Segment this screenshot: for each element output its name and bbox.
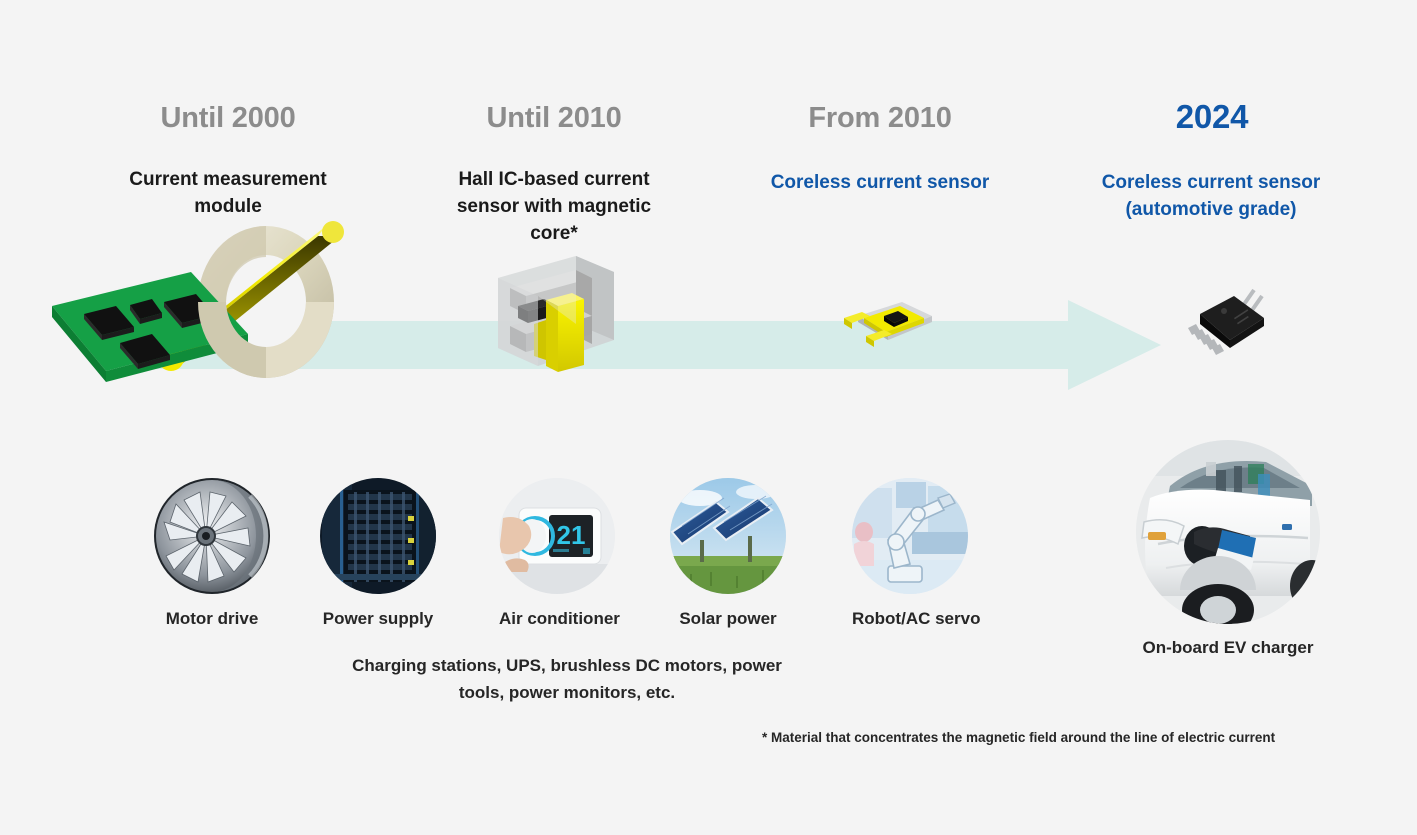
c-core-hall-sensor-icon	[480, 248, 630, 388]
solar-power-image	[670, 478, 786, 594]
soic-ic-package-icon	[1178, 284, 1274, 364]
robot-arm-image	[852, 478, 968, 594]
thermostat-temperature-value: 21	[557, 520, 586, 550]
product-image-coreless-current-sensor	[840, 298, 940, 360]
application-power-supply: Power supply	[320, 478, 436, 629]
era-header-2024: 2024	[1112, 98, 1312, 136]
era-subtitle-until-2010: Hall IC-based current sensor with magnet…	[434, 166, 674, 247]
product-image-hall-ic-core-sensor	[480, 248, 630, 388]
application-motor-drive: Motor drive	[154, 478, 270, 629]
era-subtitle-until-2010-line1: Hall IC-based current	[434, 166, 674, 193]
era-subtitle-until-2000: Current measurement module	[118, 166, 338, 220]
era-header-from-2010: From 2010	[780, 102, 980, 135]
application-solar-power: Solar power	[670, 478, 786, 629]
application-label-on-board-ev-charger: On-board EV charger	[1136, 638, 1320, 658]
ev-charging-image	[1136, 440, 1320, 624]
power-supply-image	[320, 478, 436, 594]
infographic-canvas: Until 2000 Until 2010 From 2010 2024 Cur…	[0, 0, 1417, 835]
application-label-motor-drive: Motor drive	[154, 609, 270, 629]
footnote-text: * Material that concentrates the magneti…	[762, 730, 1275, 745]
product-image-automotive-ic-package	[1178, 284, 1274, 364]
era-subtitle-2024-line2: (automotive grade)	[1068, 196, 1354, 223]
era-subtitle-2024-line1: Coreless current sensor	[1068, 169, 1354, 196]
era-subtitle-2024: Coreless current sensor (automotive grad…	[1068, 169, 1354, 223]
application-label-air-conditioner: Air conditioner	[499, 609, 615, 629]
era-subtitle-until-2000-line1: Current measurement	[118, 166, 338, 193]
era-subtitle-from-2010-line1: Coreless current sensor	[740, 169, 1020, 196]
application-air-conditioner: 21 Air conditioner	[499, 478, 615, 629]
application-robot-ac-servo: Robot/AC servo	[852, 478, 968, 629]
application-label-power-supply: Power supply	[320, 609, 436, 629]
era-subtitle-from-2010: Coreless current sensor	[740, 169, 1020, 196]
air-conditioner-image: 21	[499, 478, 615, 594]
extra-applications-line2: tools, power monitors, etc.	[328, 679, 806, 706]
extra-applications-line1: Charging stations, UPS, brushless DC mot…	[328, 652, 806, 679]
coreless-current-sensor-icon	[840, 298, 940, 360]
era-subtitle-until-2010-line2: sensor with magnetic core*	[434, 193, 674, 247]
motor-drive-image	[154, 478, 270, 594]
application-label-solar-power: Solar power	[670, 609, 786, 629]
application-label-robot-ac-servo: Robot/AC servo	[852, 609, 968, 629]
pcb-toroid-core-module-icon	[48, 214, 358, 399]
extra-applications-text: Charging stations, UPS, brushless DC mot…	[328, 652, 806, 706]
era-header-until-2010: Until 2010	[454, 102, 654, 135]
application-on-board-ev-charger: On-board EV charger	[1136, 440, 1320, 658]
product-image-current-measurement-module	[48, 214, 358, 399]
era-header-until-2000: Until 2000	[128, 102, 328, 135]
